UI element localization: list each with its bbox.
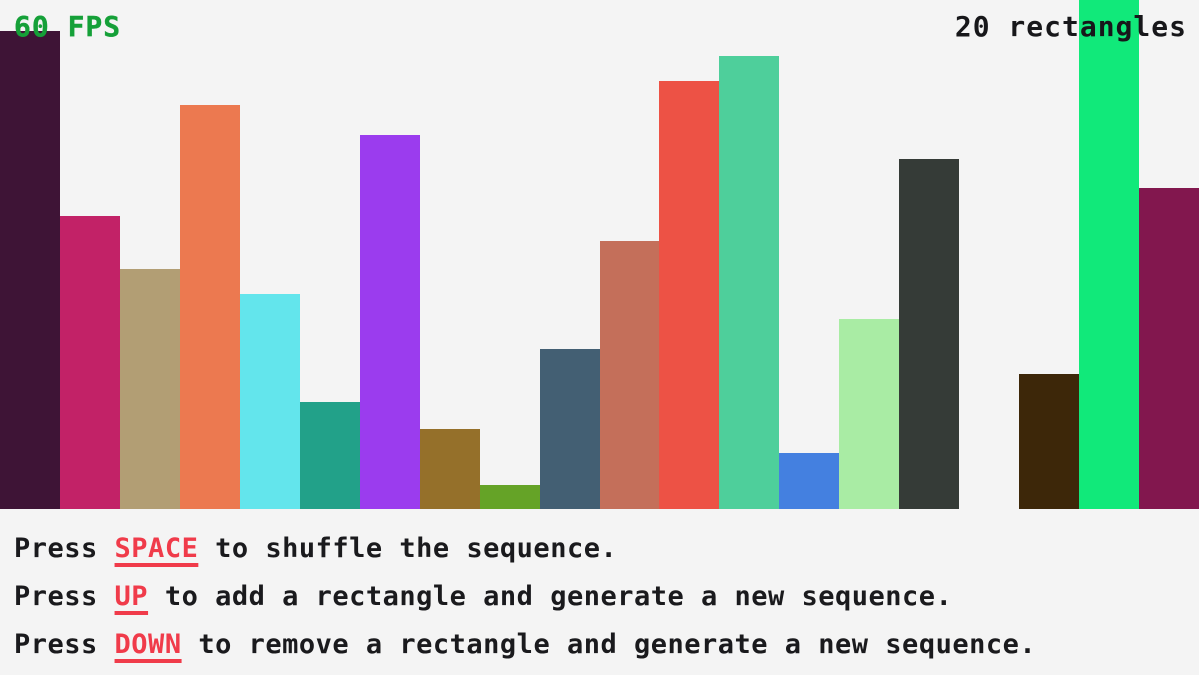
instruction-line-remove: Press DOWN to remove a rectangle and gen… [14,621,1199,669]
key-down[interactable]: DOWN [115,629,182,660]
chart-bar [240,294,300,509]
instruction-prefix: Press [14,629,115,660]
rectangle-chart [0,0,1199,509]
chart-bar [839,319,899,509]
chart-bar [1139,188,1199,509]
app-root: 60 FPS 20 rectangles Press SPACE to shuf… [0,0,1199,675]
chart-bar [1019,374,1079,509]
chart-bar [899,159,959,509]
instruction-line-add: Press UP to add a rectangle and generate… [14,573,1199,621]
chart-bar [1079,0,1139,509]
chart-bar [540,349,600,509]
chart-bar [659,81,719,509]
instruction-suffix: to shuffle the sequence. [198,533,617,564]
chart-bar [600,241,660,509]
key-space[interactable]: SPACE [115,533,199,564]
chart-bar [779,453,839,509]
instruction-suffix: to remove a rectangle and generate a new… [182,629,1037,660]
key-up[interactable]: UP [115,581,149,612]
chart-bar [180,105,240,509]
chart-bar [420,429,480,509]
chart-bar [360,135,420,509]
chart-bar [480,485,540,509]
instruction-prefix: Press [14,533,115,564]
chart-bar [120,269,180,509]
chart-bar [300,402,360,509]
rectangle-count-label: 20 rectangles [955,10,1187,43]
chart-bar [60,216,120,509]
instruction-line-shuffle: Press SPACE to shuffle the sequence. [14,525,1199,573]
fps-counter: 60 FPS [14,10,121,43]
chart-bar [719,56,779,509]
instruction-prefix: Press [14,581,115,612]
instructions-panel: Press SPACE to shuffle the sequence. Pre… [0,509,1199,675]
instruction-suffix: to add a rectangle and generate a new se… [148,581,952,612]
chart-bar [0,31,60,509]
